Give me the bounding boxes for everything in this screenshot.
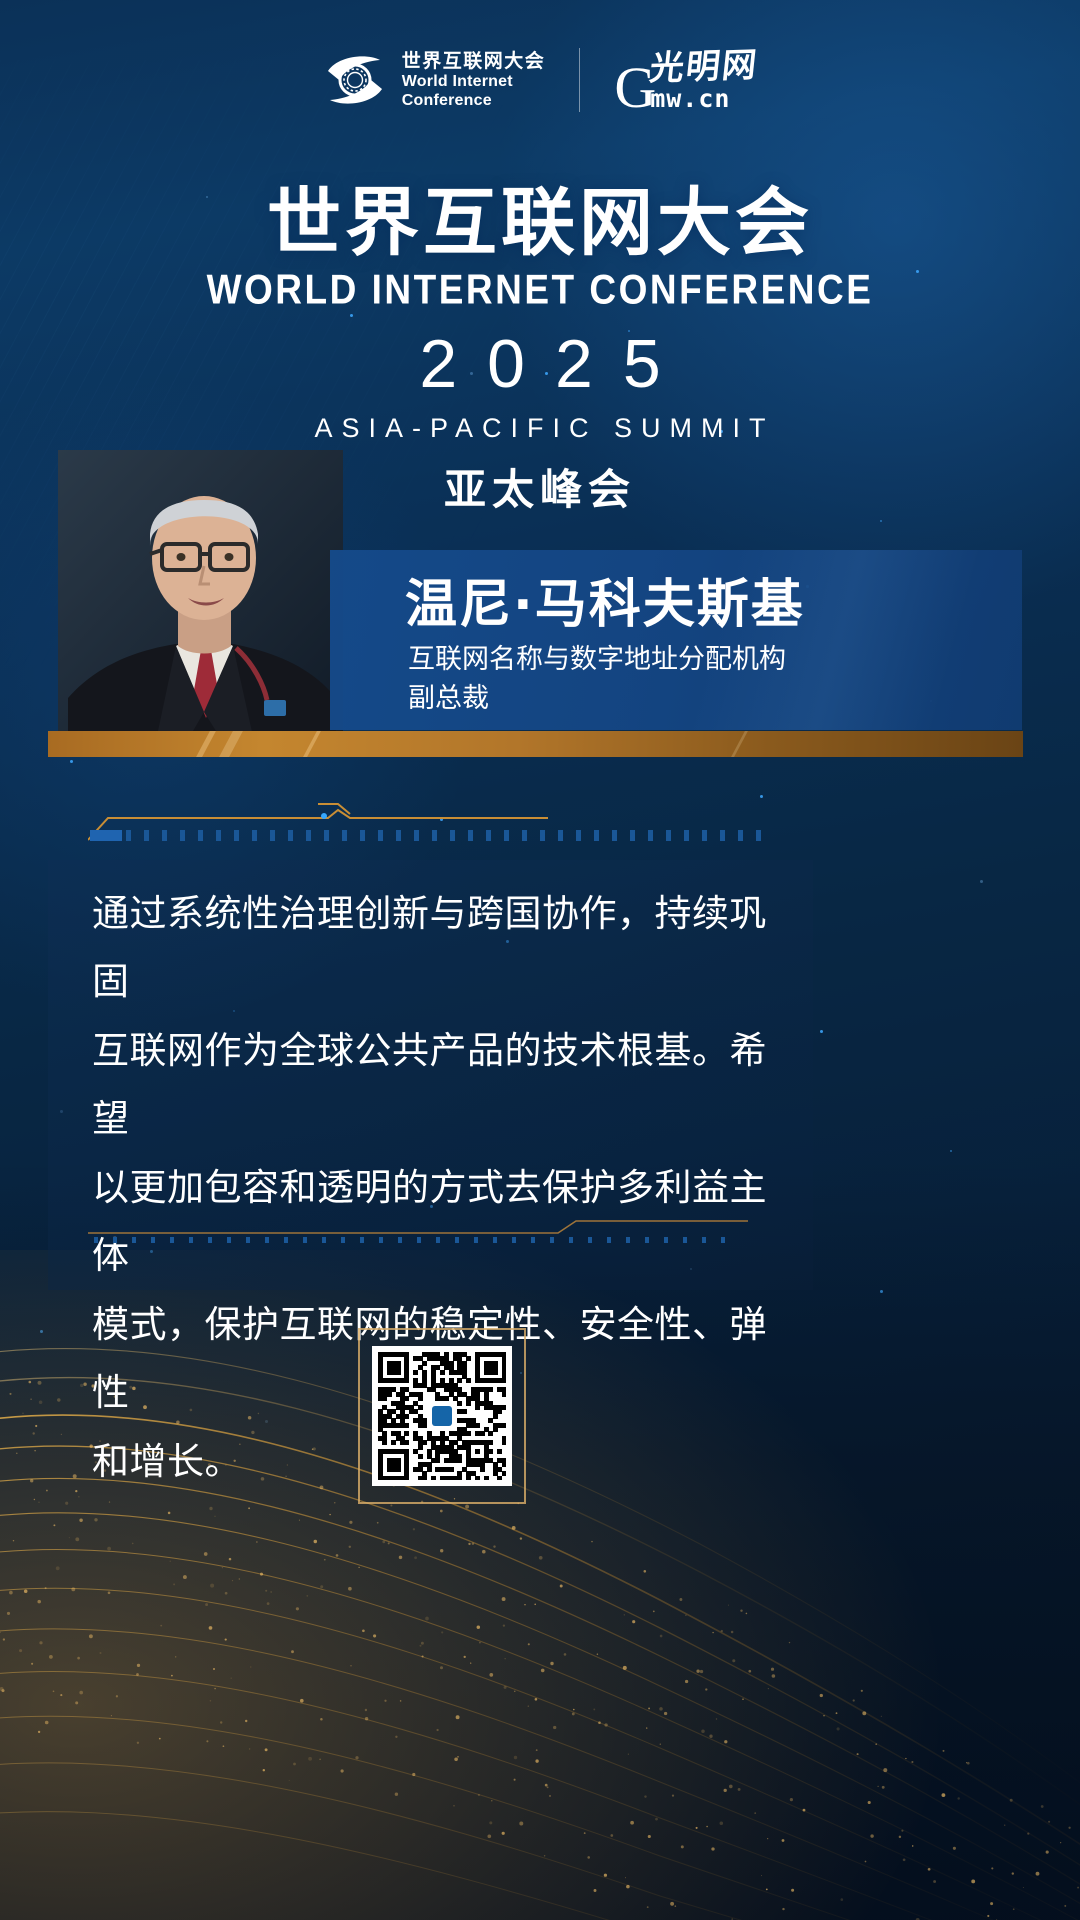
decorative-divider-top	[88, 790, 768, 850]
gmw-logo: G 光明网 mw.cn	[614, 50, 758, 111]
star-dot	[880, 520, 882, 522]
header-divider	[579, 48, 580, 112]
wic-logo-wordmark: 世界互联网大会 World Internet Conference	[402, 52, 546, 109]
title-year: 2025	[0, 325, 1080, 403]
gold-accent-bar	[48, 731, 1023, 757]
poster-header: 世界互联网大会 World Internet Conference G 光明网 …	[0, 0, 1080, 160]
decorative-divider-bottom	[88, 1215, 768, 1249]
gmw-badge-icon	[432, 1406, 452, 1426]
quote-line: 互联网作为全球公共产品的技术根基。希望	[92, 1017, 782, 1154]
gmw-logo-url: mw.cn	[650, 86, 758, 111]
speaker-organization: 互联网名称与数字地址分配机构 副总裁	[408, 640, 1028, 718]
title-en: WORLD INTERNET CONFERENCE	[0, 267, 1080, 314]
qr-center-logo	[429, 1403, 455, 1429]
star-dot	[70, 760, 73, 763]
qr-code-frame[interactable]	[358, 1328, 526, 1504]
speaker-org-line1: 互联网名称与数字地址分配机构	[408, 640, 1028, 679]
quote-line: 通过系统性治理创新与跨国协作，持续巩固	[92, 880, 782, 1017]
speaker-name: 温尼·马科夫斯基	[405, 562, 1045, 637]
speaker-org-line2: 副总裁	[408, 679, 1028, 718]
title-cn: 世界互联网大会	[0, 185, 1080, 261]
speaker-portrait	[58, 450, 343, 750]
wic-logo-cn: 世界互联网大会	[402, 52, 546, 71]
wic-swirl-logo-icon	[322, 47, 388, 113]
title-subtitle-en: ASIA-PACIFIC SUMMIT	[0, 413, 1080, 444]
star-dot	[980, 880, 983, 883]
wic-logo-en-line2: Conference	[402, 93, 546, 109]
star-dot	[820, 1030, 823, 1033]
wic-logo: 世界互联网大会 World Internet Conference	[322, 47, 546, 113]
wic-logo-en-line1: World Internet	[402, 74, 546, 90]
qr-code[interactable]	[372, 1346, 512, 1486]
gmw-logo-cn: 光明网	[648, 48, 760, 86]
